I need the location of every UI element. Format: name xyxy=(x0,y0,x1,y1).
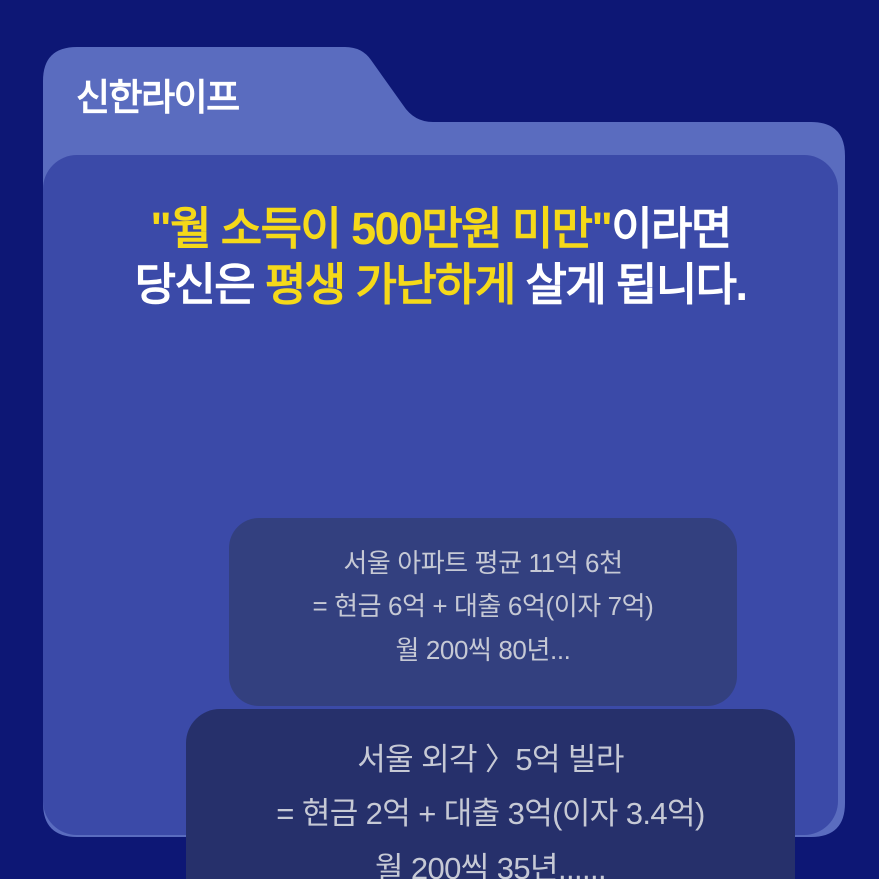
headline-line2-base-b: 살게 됩니다. xyxy=(515,259,747,310)
card-news-canvas: 신한라이프 "월 소득이 500만원 미만"이라면 당신은 평생 가난하게 살게… xyxy=(0,0,879,879)
card-upper-line-2: = 현금 6억 + 대출 6억(이자 7억) xyxy=(229,585,737,628)
brand-logo: 신한라이프 xyxy=(76,79,239,116)
card-upper-line-1: 서울 아파트 평균 11억 6천 xyxy=(229,542,737,585)
headline-line2-base-a: 당신은 xyxy=(135,259,265,310)
card-lower-line-1: 서울 외각 〉5억 빌라 xyxy=(186,733,795,787)
info-card-seoul-apartment: 서울 아파트 평균 11억 6천 = 현금 6억 + 대출 6억(이자 7억) … xyxy=(229,518,737,706)
card-upper-line-3: 월 200씩 80년... xyxy=(229,629,737,672)
headline-line1-base: 이라면 xyxy=(611,203,730,254)
headline-line1-accent: "월 소득이 500만원 미만" xyxy=(150,203,611,254)
headline: "월 소득이 500만원 미만"이라면 당신은 평생 가난하게 살게 됩니다. xyxy=(43,201,838,313)
headline-line-1: "월 소득이 500만원 미만"이라면 xyxy=(43,201,838,257)
card-lower-line-3: 월 200씩 35년...... xyxy=(186,842,795,879)
headline-line-2: 당신은 평생 가난하게 살게 됩니다. xyxy=(43,257,838,313)
main-panel: "월 소득이 500만원 미만"이라면 당신은 평생 가난하게 살게 됩니다. … xyxy=(43,155,838,835)
info-card-seoul-outskirts-villa: 서울 외각 〉5억 빌라 = 현금 2억 + 대출 3억(이자 3.4억) 월 … xyxy=(186,709,795,879)
headline-line2-accent: 평생 가난하게 xyxy=(265,259,515,310)
card-lower-line-2: = 현금 2억 + 대출 3억(이자 3.4억) xyxy=(186,787,795,841)
